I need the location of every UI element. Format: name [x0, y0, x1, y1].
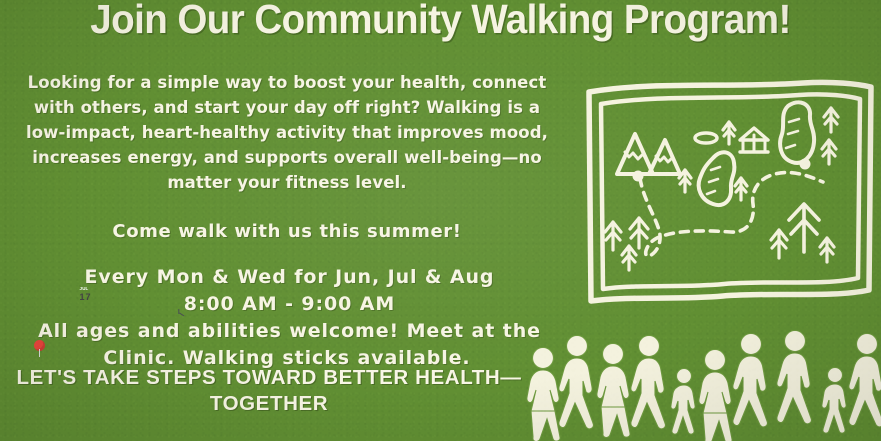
intro-paragraph: Looking for a simple way to boost your h…	[4, 70, 570, 195]
walker-figure	[733, 334, 768, 427]
walker-figure	[597, 344, 630, 438]
walker-figure	[671, 369, 695, 435]
event-details-list: JUL 17 Every Mon & Wed for Jun, Jul & Au…	[4, 264, 570, 372]
walking-people-illustration	[519, 327, 881, 441]
walker-figure	[849, 334, 881, 427]
detail-schedule: JUL 17 Every Mon & Wed for Jun, Jul & Au…	[4, 264, 570, 291]
walker-figure	[527, 348, 560, 441]
detail-location: All ages and abilities welcome! Meet at …	[4, 318, 570, 372]
detail-time-text: 8:00 AM - 9:00 AM	[184, 293, 395, 315]
call-to-action-line: Come walk with us this summer!	[4, 221, 570, 242]
trail-map-illustration	[583, 78, 877, 306]
walker-figure	[777, 331, 812, 424]
walker-figure	[822, 368, 846, 434]
page-title: Join Our Community Walking Program!	[26, 0, 854, 43]
content-column: Looking for a simple way to boost your h…	[4, 70, 570, 372]
walker-figure	[631, 336, 666, 429]
poster-canvas: Join Our Community Walking Program! Look…	[0, 0, 881, 441]
detail-schedule-text: Every Mon & Wed for Jun, Jul & Aug	[85, 266, 495, 288]
closing-slogan: LET'S TAKE STEPS TOWARD BETTER HEALTH—TO…	[4, 365, 534, 417]
walker-figure	[559, 336, 594, 429]
detail-location-text: All ages and abilities welcome! Meet at …	[38, 320, 541, 369]
walker-figure	[699, 350, 732, 441]
